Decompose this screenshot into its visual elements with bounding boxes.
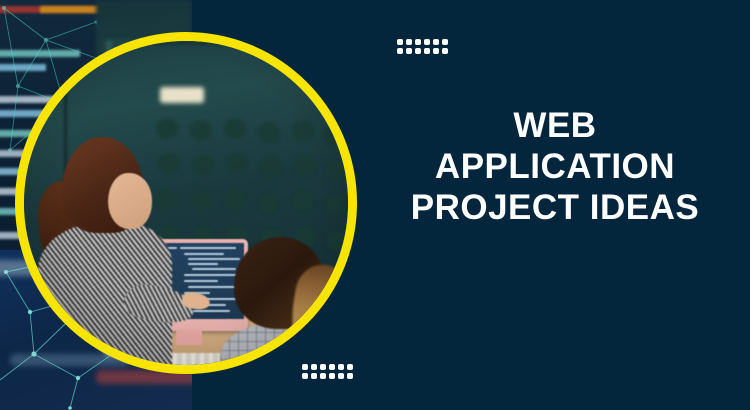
dot [433,48,439,54]
team-coding-photo [15,32,357,374]
dot [347,364,353,370]
dot [415,48,421,54]
dot-grid-top [397,39,448,54]
dot [397,48,403,54]
dot [347,373,353,379]
dot [302,364,308,370]
dot [406,39,412,45]
dot [338,373,344,379]
dot [329,373,335,379]
dot [424,48,430,54]
dot [320,364,326,370]
dot [329,364,335,370]
title-line-2: APPLICATION [390,146,720,187]
dot-grid-bottom [302,364,353,379]
dot [406,48,412,54]
dot [442,39,448,45]
dot [424,39,430,45]
banner-canvas: WEB APPLICATION PROJECT IDEAS [0,0,750,410]
dot [442,48,448,54]
page-title: WEB APPLICATION PROJECT IDEAS [390,105,720,228]
dot [338,364,344,370]
dot [397,39,403,45]
title-line-1: WEB [390,105,720,146]
dot [311,364,317,370]
dot [320,373,326,379]
title-line-3: PROJECT IDEAS [390,187,720,228]
dot [415,39,421,45]
dot [433,39,439,45]
dot [302,373,308,379]
dot [311,373,317,379]
